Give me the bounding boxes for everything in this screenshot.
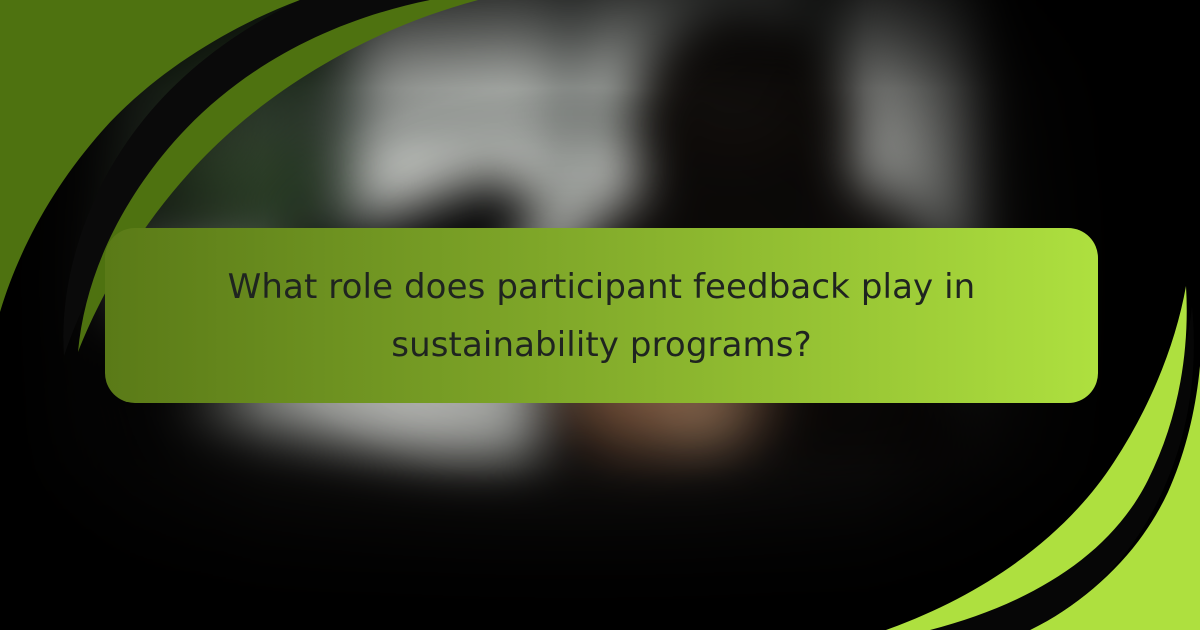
question-text: What role does participant feedback play… bbox=[228, 258, 976, 374]
question-line-2: sustainability programs? bbox=[391, 325, 811, 365]
question-line-1: What role does participant feedback play… bbox=[228, 267, 976, 307]
screenshot-canvas: What role does participant feedback play… bbox=[0, 0, 1200, 630]
question-card: What role does participant feedback play… bbox=[105, 228, 1098, 403]
